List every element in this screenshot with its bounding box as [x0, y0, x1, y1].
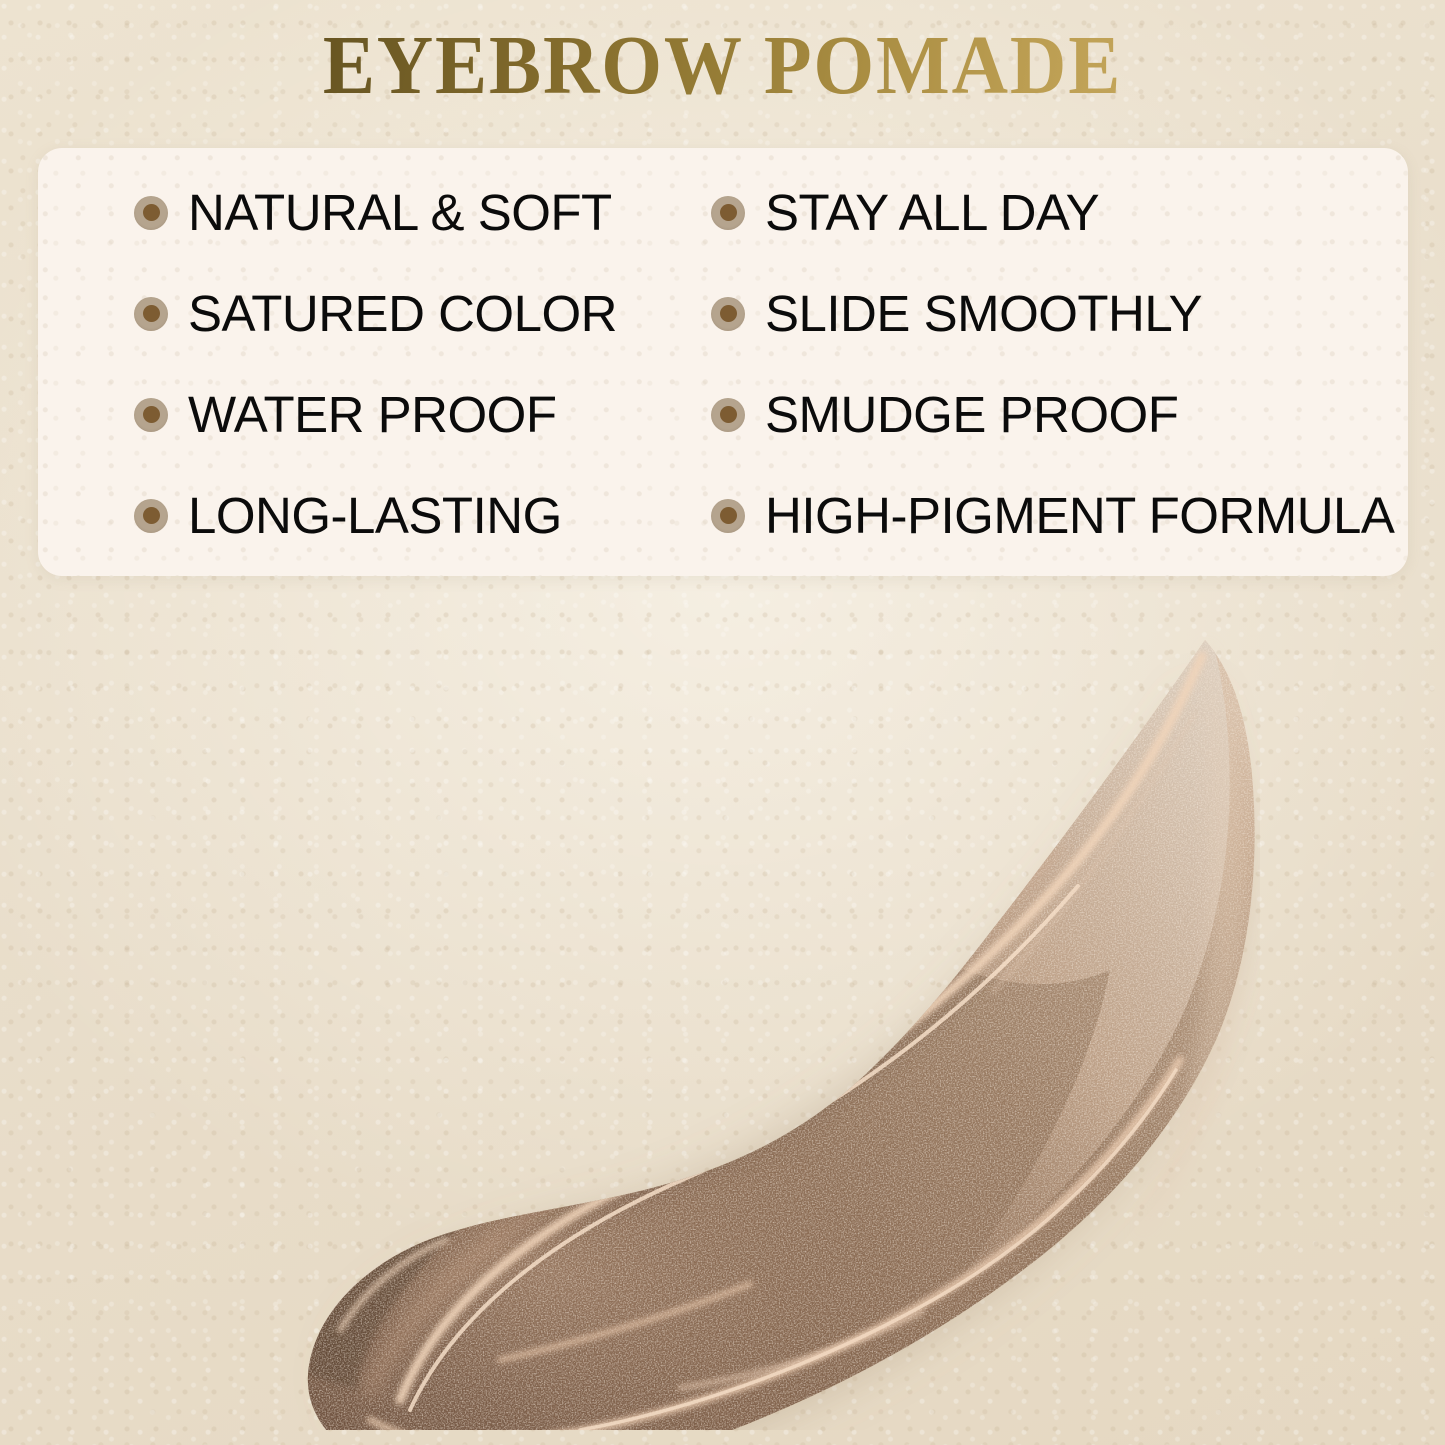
feature-label: SATURED COLOR	[188, 288, 617, 339]
bullet-dot-icon	[134, 196, 168, 230]
feature-item: SMUDGE PROOF	[623, 364, 1408, 465]
swatch-body	[250, 600, 1260, 1430]
bullet-dot-icon	[134, 398, 168, 432]
feature-label: HIGH-PIGMENT FORMULA	[765, 490, 1394, 541]
feature-label: NATURAL & SOFT	[188, 187, 612, 238]
product-feature-graphic: EYEBROW POMADE NATURAL & SOFT STAY ALL D…	[0, 0, 1445, 1445]
swatch-illustration	[250, 600, 1260, 1430]
bullet-dot-icon	[134, 499, 168, 533]
feature-item: STAY ALL DAY	[623, 162, 1408, 263]
feature-item: NATURAL & SOFT	[38, 162, 623, 263]
feature-label: WATER PROOF	[188, 389, 556, 440]
feature-item: HIGH-PIGMENT FORMULA	[623, 465, 1408, 566]
bullet-dot-icon	[711, 398, 745, 432]
bullet-dot-icon	[134, 297, 168, 331]
product-swatch	[250, 600, 1260, 1430]
feature-item: LONG-LASTING	[38, 465, 623, 566]
bullet-dot-icon	[711, 499, 745, 533]
bullet-dot-icon	[711, 297, 745, 331]
feature-item: SLIDE SMOOTHLY	[623, 263, 1408, 364]
feature-label: LONG-LASTING	[188, 490, 562, 541]
feature-label: SMUDGE PROOF	[765, 389, 1178, 440]
feature-label: STAY ALL DAY	[765, 187, 1099, 238]
features-grid: NATURAL & SOFT STAY ALL DAY SATURED COLO…	[38, 148, 1408, 576]
page-title: EYEBROW POMADE	[51, 22, 1395, 110]
feature-label: SLIDE SMOOTHLY	[765, 288, 1202, 339]
bullet-dot-icon	[711, 196, 745, 230]
feature-item: WATER PROOF	[38, 364, 623, 465]
features-card: NATURAL & SOFT STAY ALL DAY SATURED COLO…	[38, 148, 1408, 576]
feature-item: SATURED COLOR	[38, 263, 623, 364]
